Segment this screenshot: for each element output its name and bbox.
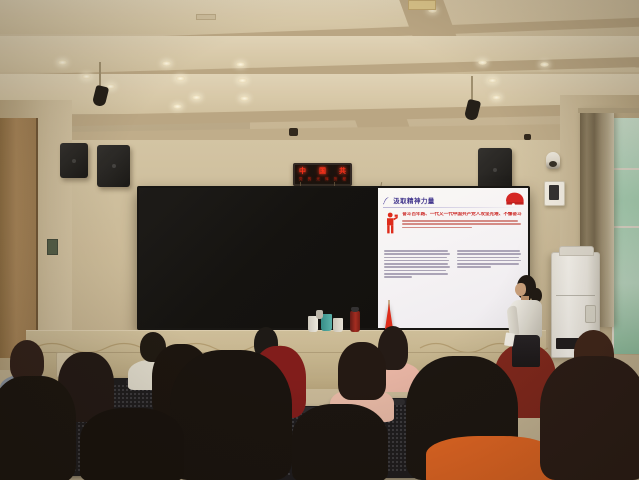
audience-member — [426, 436, 556, 480]
hair — [540, 356, 639, 480]
dispenser-seam — [556, 295, 595, 296]
window-mullion — [612, 168, 639, 170]
slide-body-columns — [384, 250, 522, 322]
audience-member — [540, 356, 639, 480]
downlight — [176, 76, 185, 81]
quill-icon — [383, 196, 390, 205]
slide-headline: 奋斗百年路、一代又一代中国共产党人攻坚克难、不懈奋斗 — [402, 212, 521, 218]
presenter-pants — [512, 335, 540, 367]
slide-hero-row: 奋斗百年路、一代又一代中国共产党人攻坚克难、不懈奋斗 — [384, 212, 520, 234]
hair — [338, 342, 386, 400]
downlight — [192, 95, 201, 100]
hair — [170, 350, 292, 480]
dispenser-top — [559, 246, 594, 256]
water-bottle[interactable] — [350, 311, 360, 332]
slide-column — [384, 250, 449, 322]
led-subchar: 党 — [299, 177, 303, 181]
downlight — [58, 60, 67, 65]
downlight — [240, 96, 249, 101]
display-dark-area — [139, 188, 380, 328]
curtain-rod — [578, 108, 639, 113]
shoulders — [426, 436, 556, 480]
slide-subtext — [402, 220, 521, 228]
ceiling-camera — [289, 128, 298, 136]
window — [612, 118, 639, 354]
lecture-room-photo: 中 国 共 党 的 光 辉 历 程 汲取精神力量 — [0, 0, 639, 480]
hair — [292, 404, 388, 480]
scrolling-led-sign: 中 国 共 党 的 光 辉 历 程 — [293, 163, 352, 186]
slide-title-rule — [383, 207, 522, 208]
audience-member — [0, 376, 76, 480]
ceiling-camera-pendant — [464, 76, 480, 124]
dispenser-tap[interactable] — [585, 305, 596, 323]
hair — [80, 408, 184, 480]
downlight — [82, 74, 91, 79]
ceiling-camera-pendant — [92, 62, 108, 110]
dome-camera — [546, 152, 560, 169]
wall-speaker-right — [478, 148, 512, 191]
paper-cup[interactable] — [333, 318, 343, 332]
room-door[interactable] — [0, 118, 38, 358]
wall-display[interactable]: 汲取精神力量 — [137, 186, 530, 330]
led-subchar: 程 — [342, 177, 346, 181]
ceiling-vent — [196, 14, 216, 20]
downlight — [492, 95, 501, 100]
led-char: 中 — [299, 168, 306, 175]
downlight — [162, 61, 171, 66]
slide-title-row: 汲取精神力量 — [383, 194, 522, 207]
hair — [0, 376, 76, 480]
downlight — [488, 78, 497, 83]
presenter — [507, 275, 551, 367]
wall-switch-plate[interactable] — [47, 239, 58, 255]
led-char: 共 — [339, 168, 346, 175]
led-subchar: 光 — [316, 177, 320, 181]
slide-hero-text: 奋斗百年路、一代又一代中国共产党人攻坚克难、不懈奋斗 — [402, 212, 521, 230]
led-char: 国 — [319, 168, 326, 175]
downlight — [173, 104, 182, 109]
window-mullion — [612, 226, 639, 228]
wall-speaker-left-b — [97, 145, 130, 187]
ceiling-vent — [408, 0, 436, 10]
downlight — [540, 62, 549, 67]
audience-member — [170, 350, 292, 480]
audience-member — [292, 404, 388, 480]
water-bottle[interactable] — [316, 310, 323, 319]
downlight — [236, 62, 245, 67]
presenter-face — [515, 283, 526, 296]
slide-title: 汲取精神力量 — [393, 197, 434, 205]
presentation-slide: 汲取精神力量 — [378, 188, 528, 328]
red-figure-icon — [384, 212, 398, 234]
led-subchar: 的 — [308, 177, 312, 181]
downlight — [478, 60, 487, 65]
wall-control-box[interactable] — [544, 181, 565, 206]
downlight — [238, 78, 247, 83]
wall-speaker-left-a — [60, 143, 88, 178]
led-subchar: 历 — [334, 177, 338, 181]
audience-member — [80, 408, 184, 480]
red-banner-logo — [503, 191, 525, 208]
bottle-cap[interactable] — [351, 307, 359, 312]
led-subchar: 辉 — [325, 177, 329, 181]
